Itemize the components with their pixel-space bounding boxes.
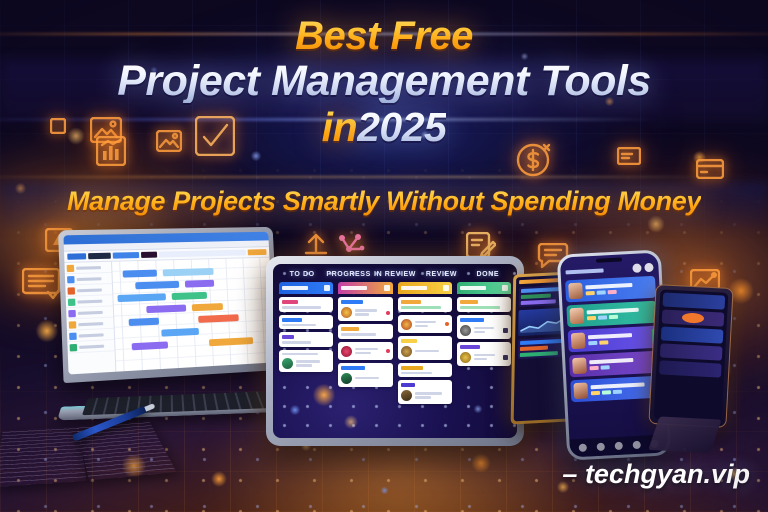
kanban-card[interactable]	[457, 315, 511, 339]
kanban-column-todo[interactable]	[279, 282, 333, 404]
kanban-board	[273, 282, 517, 404]
kanban-card[interactable]	[338, 363, 392, 387]
network-icon	[336, 232, 366, 256]
kanban-column-header[interactable]	[398, 282, 452, 294]
headline-year: 2025	[357, 107, 446, 148]
nav-dot-icon[interactable]	[597, 443, 605, 451]
kanban-card[interactable]	[338, 297, 392, 321]
status-badge	[682, 312, 704, 323]
kanban-card[interactable]	[338, 342, 392, 360]
list-item[interactable]	[659, 360, 722, 377]
kanban-card[interactable]	[279, 350, 333, 373]
gantt-bar	[135, 281, 179, 289]
phone-notch	[596, 257, 622, 262]
kanban-column-title-done[interactable]: DONE	[465, 271, 511, 278]
gantt-bar	[172, 292, 207, 300]
kanban-card[interactable]	[398, 363, 452, 378]
headline-line-3-prefix: in	[322, 107, 357, 148]
tablet-frame: TO DO PROGRESS IN REVIEW REVIEW DONE	[266, 256, 524, 446]
avatar	[460, 325, 471, 336]
avatar	[460, 352, 471, 363]
window-icon	[617, 147, 641, 165]
list-item[interactable]	[663, 292, 726, 309]
kanban-column-title-progress[interactable]: PROGRESS	[325, 271, 371, 278]
tablet-screen: TO DO PROGRESS IN REVIEW REVIEW DONE	[273, 264, 517, 438]
list-item[interactable]	[662, 309, 725, 326]
phone-header-action[interactable]	[632, 263, 641, 272]
headline-line-3: in 2025	[0, 107, 768, 148]
gantt-bar	[163, 268, 214, 276]
kanban-card[interactable]	[279, 315, 333, 330]
list-item[interactable]	[569, 351, 660, 378]
avatar	[573, 382, 588, 399]
avatar	[571, 332, 586, 349]
list-item[interactable]	[570, 376, 661, 403]
kanban-column-header[interactable]	[279, 282, 333, 294]
list-item[interactable]	[566, 301, 657, 328]
phone-header-action[interactable]	[644, 263, 653, 272]
gantt-grid	[64, 258, 274, 375]
gantt-bar	[129, 318, 159, 326]
nav-home-icon[interactable]	[615, 442, 623, 450]
gantt-task-list	[64, 262, 116, 375]
kanban-column-done[interactable]	[457, 282, 511, 404]
avatar	[569, 308, 584, 325]
kanban-column-title-inreview[interactable]: IN REVIEW	[372, 271, 418, 278]
gantt-bar	[209, 337, 253, 346]
kanban-column-title-todo[interactable]: TO DO	[279, 271, 325, 278]
gantt-bar	[192, 303, 223, 311]
avatar	[401, 390, 412, 401]
list-item[interactable]	[660, 343, 723, 360]
kanban-card[interactable]	[398, 380, 452, 404]
edit-note-icon	[466, 232, 496, 258]
laptop-screen	[63, 232, 274, 375]
right-tablet-screen	[654, 289, 729, 422]
kanban-card[interactable]	[398, 297, 452, 312]
kanban-card[interactable]	[338, 324, 392, 339]
gantt-bar	[146, 305, 186, 314]
gantt-bar	[132, 341, 168, 350]
list-item[interactable]	[568, 326, 659, 353]
card-icon	[696, 159, 724, 179]
tablet-stand	[648, 416, 721, 453]
kanban-card[interactable]	[279, 297, 333, 312]
headline-block: Best Free Project Management Tools in 20…	[0, 16, 768, 148]
kanban-card[interactable]	[457, 342, 511, 366]
nav-back-icon[interactable]	[579, 444, 587, 452]
list-item[interactable]	[661, 326, 724, 343]
poster-canvas: Best Free Project Management Tools in 20…	[0, 0, 768, 512]
list-item	[67, 340, 114, 354]
right-tablet-frame	[648, 284, 733, 428]
nav-menu-icon[interactable]	[633, 441, 641, 449]
avatar	[401, 346, 412, 357]
avatar	[401, 319, 412, 330]
headline-line-1-text: Best Free	[295, 16, 473, 56]
kanban-column-title-review[interactable]: REVIEW	[418, 271, 464, 278]
kanban-column-titles: TO DO PROGRESS IN REVIEW REVIEW DONE	[273, 264, 517, 282]
headline-line-2-text: Project Management Tools	[117, 60, 651, 103]
kanban-card[interactable]	[279, 332, 333, 347]
gantt-bar	[185, 280, 214, 288]
gantt-bar	[198, 314, 239, 323]
tablet-device: TO DO PROGRESS IN REVIEW REVIEW DONE	[266, 256, 524, 446]
phone-app-title	[565, 268, 603, 274]
kanban-column-header[interactable]	[457, 282, 511, 294]
kanban-card[interactable]	[398, 336, 452, 360]
avatar	[341, 346, 352, 357]
headline-line-1: Best Free	[0, 16, 768, 56]
gantt-bar	[161, 328, 199, 337]
watermark: – techgyan.vip	[562, 459, 750, 490]
kanban-card[interactable]	[457, 297, 511, 312]
list-item[interactable]	[565, 276, 656, 303]
avatar	[341, 307, 352, 318]
upload-icon	[303, 230, 329, 256]
kanban-column-progress[interactable]	[338, 282, 392, 404]
gantt-bar	[123, 270, 157, 278]
avatar	[282, 358, 293, 369]
laptop-lid	[58, 227, 280, 383]
notebook-object	[0, 392, 172, 506]
phone-app-header	[565, 263, 653, 277]
avatar	[572, 357, 587, 374]
headline-line-2: Project Management Tools	[0, 60, 768, 103]
gantt-bar	[117, 293, 166, 302]
subtitle: Manage Projects Smartly Without Spending…	[0, 186, 768, 217]
right-tablet-device	[648, 284, 733, 428]
kanban-card[interactable]	[398, 315, 452, 333]
subtitle-text: Manage Projects Smartly Without Spending…	[67, 186, 701, 217]
avatar	[341, 373, 352, 384]
light-streak-lower	[0, 176, 768, 178]
avatar	[568, 283, 583, 300]
kanban-column-header[interactable]	[338, 282, 392, 294]
kanban-column-inreview[interactable]	[398, 282, 452, 404]
